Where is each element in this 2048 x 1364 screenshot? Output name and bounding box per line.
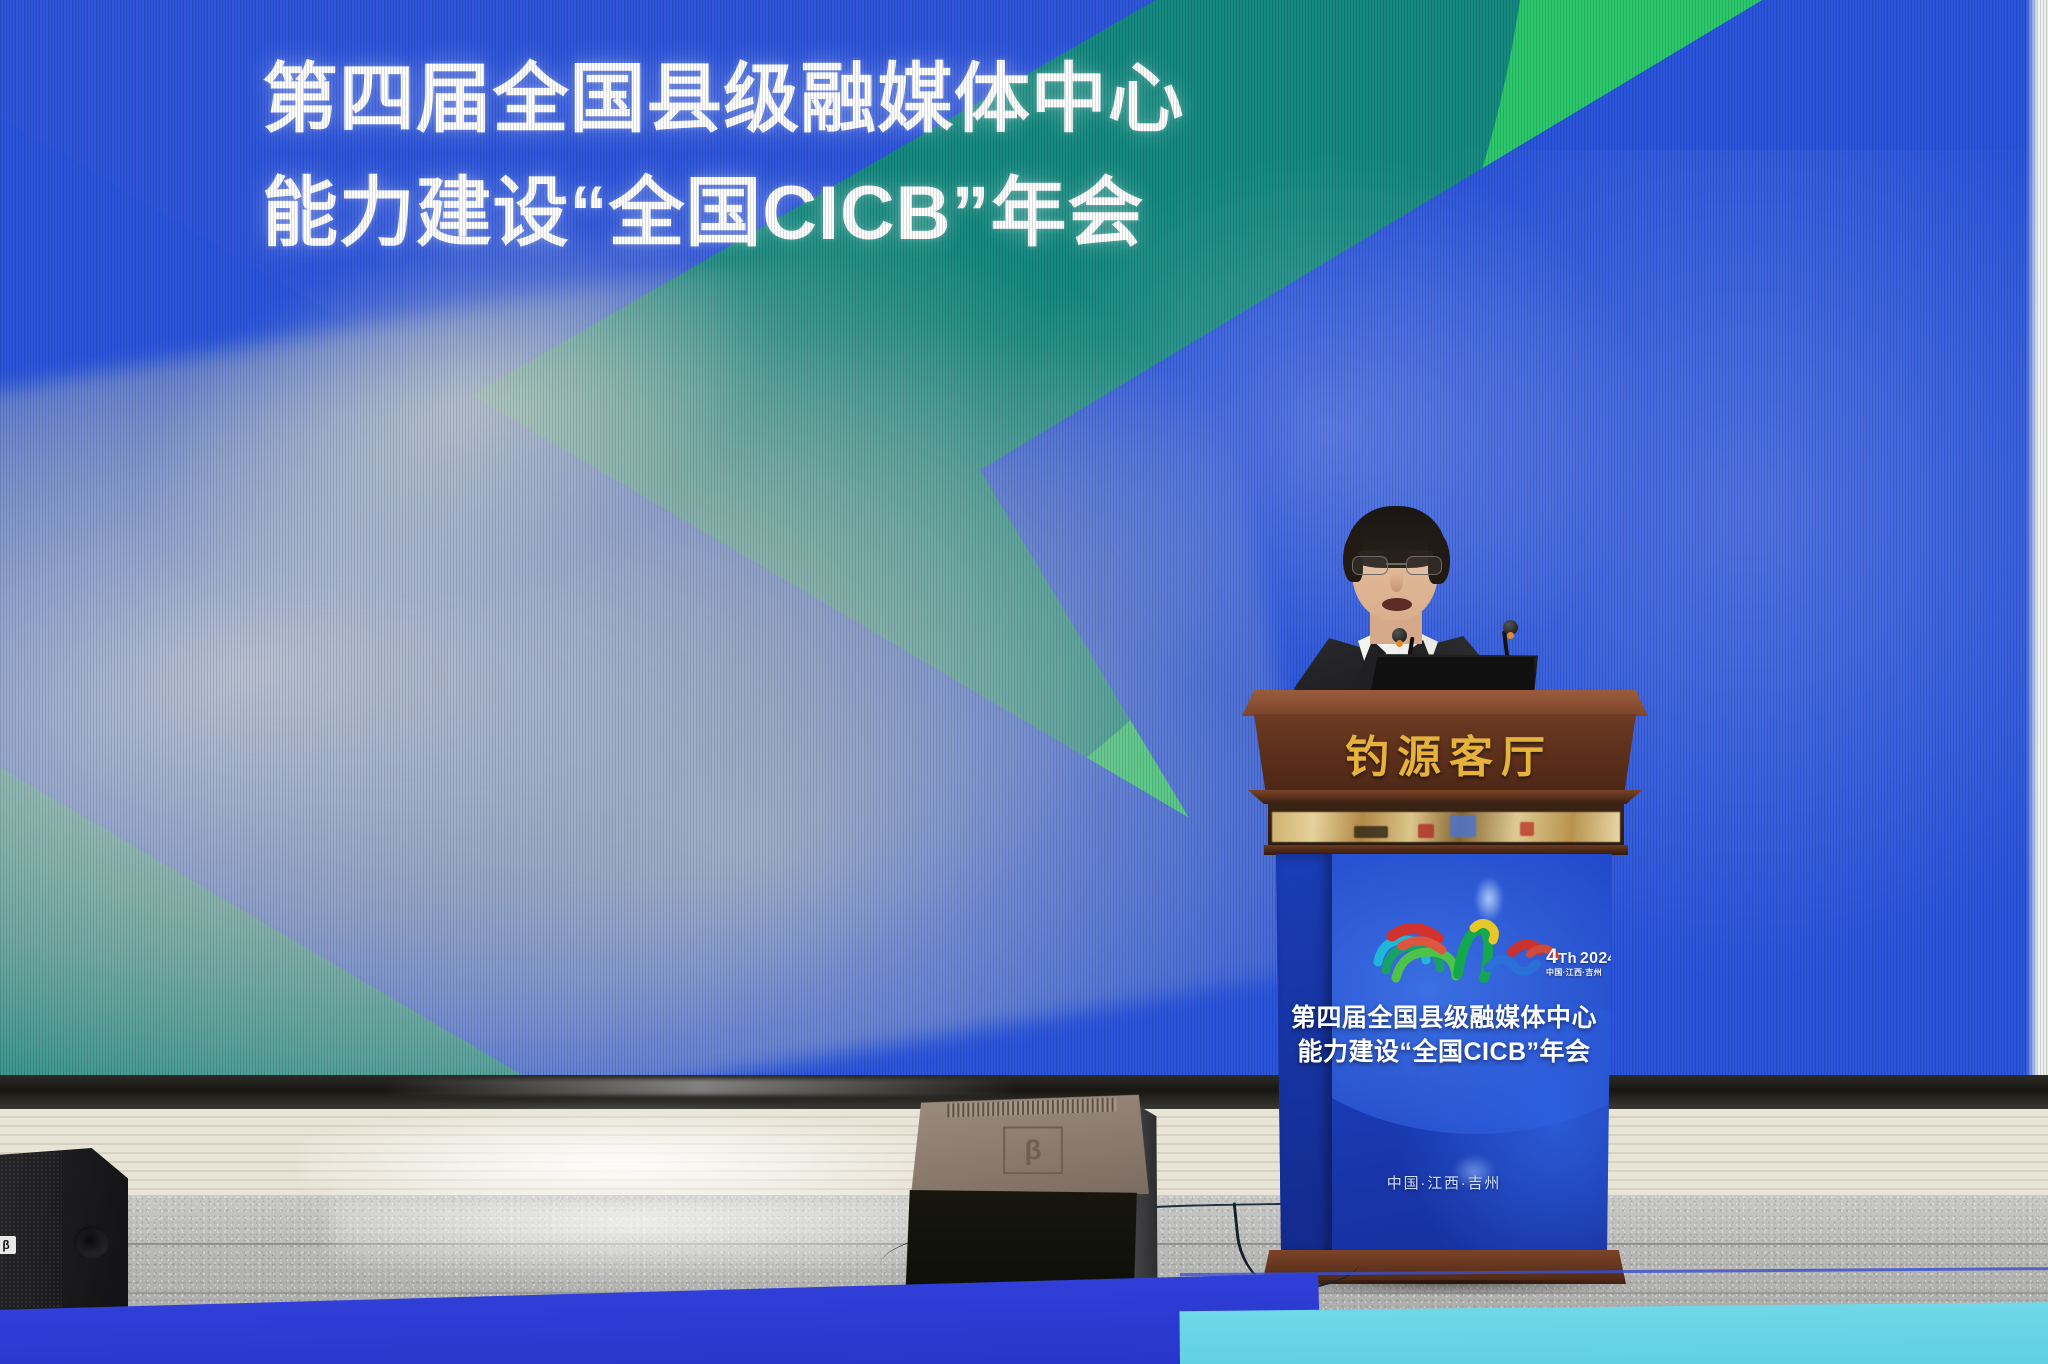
- led-video-wall: 第四届全国县级融媒体中心 能力建设“全国CICB”年会: [0, 0, 2048, 1075]
- podium-plaque-text: 钓源客厅: [1337, 721, 1553, 785]
- podium-event-title: 第四届全国县级融媒体中心 能力建设“全国CICB”年会: [1276, 1004, 1612, 1067]
- mouth: [1382, 598, 1412, 611]
- nose: [1390, 572, 1403, 592]
- led-headline: 第四届全国县级融媒体中心 能力建设“全国CICB”年会: [262, 52, 1442, 262]
- monitor-top-panel: β: [911, 1095, 1149, 1194]
- podium-title-line-1: 第四届全国县级融媒体中心: [1276, 1004, 1612, 1034]
- shelf-object-red-2: [1520, 822, 1534, 836]
- podium-location-text: 中国·江西·吉州: [1276, 1172, 1612, 1193]
- led-headline-line-1: 第四届全国县级融媒体中心: [262, 52, 1442, 148]
- speaker-bass-port: [74, 1226, 110, 1260]
- microphone-indicator-right: [1507, 632, 1514, 639]
- logo-location-text: 中国·江西·吉州: [1546, 969, 1612, 977]
- podium-front-plaque: 钓源客厅: [1254, 714, 1636, 792]
- podium-shelf: [1268, 802, 1624, 848]
- monitor-brand-logo: β: [1003, 1126, 1063, 1174]
- podium-title-line-2: 能力建设“全国CICB”年会: [1276, 1038, 1612, 1068]
- shelf-object-dark: [1354, 826, 1388, 838]
- eyeglass-bridge: [1386, 563, 1406, 565]
- trim-highlight: [380, 1079, 1020, 1095]
- edition-number: 4: [1546, 945, 1558, 968]
- eyeglass-lens-right: [1406, 556, 1442, 575]
- speaker-brand-badge: β: [0, 1236, 16, 1254]
- microphone-indicator-left: [1396, 640, 1403, 647]
- shelf-object-red: [1418, 824, 1434, 838]
- event-year: 2024: [1580, 950, 1612, 967]
- shelf-reflective-band: [1272, 812, 1620, 842]
- monitor-vent: [947, 1098, 1116, 1118]
- foreground-cyan-panel: [1179, 1301, 2048, 1364]
- eyeglass-lens-left: [1352, 556, 1388, 575]
- led-wall-right-edge: [2026, 0, 2048, 1075]
- podium-shelf-edge: [1264, 845, 1628, 855]
- shelf-object-blue: [1450, 815, 1476, 837]
- led-headline-line-2: 能力建设“全国CICB”年会: [262, 166, 1442, 262]
- edition-suffix: Th: [1558, 950, 1577, 967]
- podium-top-surface: [1242, 690, 1648, 716]
- event-edition-badge: 4Th2024 中国·江西·吉州: [1546, 946, 1612, 977]
- conference-stage-photo: 第四届全国县级融媒体中心 能力建设“全国CICB”年会 β β: [0, 0, 2048, 1364]
